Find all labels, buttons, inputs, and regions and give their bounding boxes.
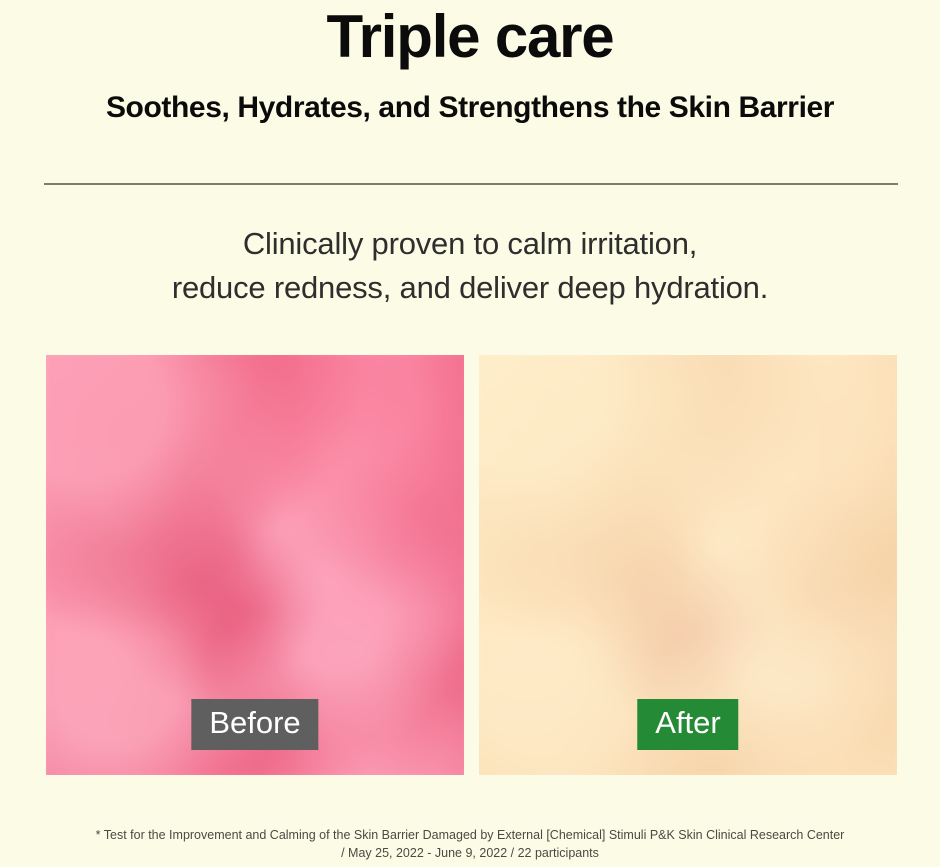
- footnote-line-1: * Test for the Improvement and Calming o…: [0, 826, 940, 844]
- footnote: * Test for the Improvement and Calming o…: [0, 826, 940, 862]
- page-title: Triple care: [0, 2, 940, 72]
- lead-line-2: reduce redness, and deliver deep hydrati…: [0, 266, 940, 310]
- product-claim-page: Triple care Soothes, Hydrates, and Stren…: [0, 0, 940, 867]
- horizontal-divider: [44, 183, 898, 185]
- lead-paragraph: Clinically proven to calm irritation, re…: [0, 222, 940, 310]
- after-label-badge: After: [637, 699, 738, 750]
- before-image-panel: Before: [46, 355, 464, 775]
- lead-line-1: Clinically proven to calm irritation,: [0, 222, 940, 266]
- before-label-badge: Before: [191, 699, 318, 750]
- after-image-panel: After: [479, 355, 897, 775]
- page-subtitle: Soothes, Hydrates, and Strengthens the S…: [0, 88, 940, 128]
- footnote-line-2: / May 25, 2022 - June 9, 2022 / 22 parti…: [0, 844, 940, 862]
- before-after-comparison: Before After: [46, 355, 903, 775]
